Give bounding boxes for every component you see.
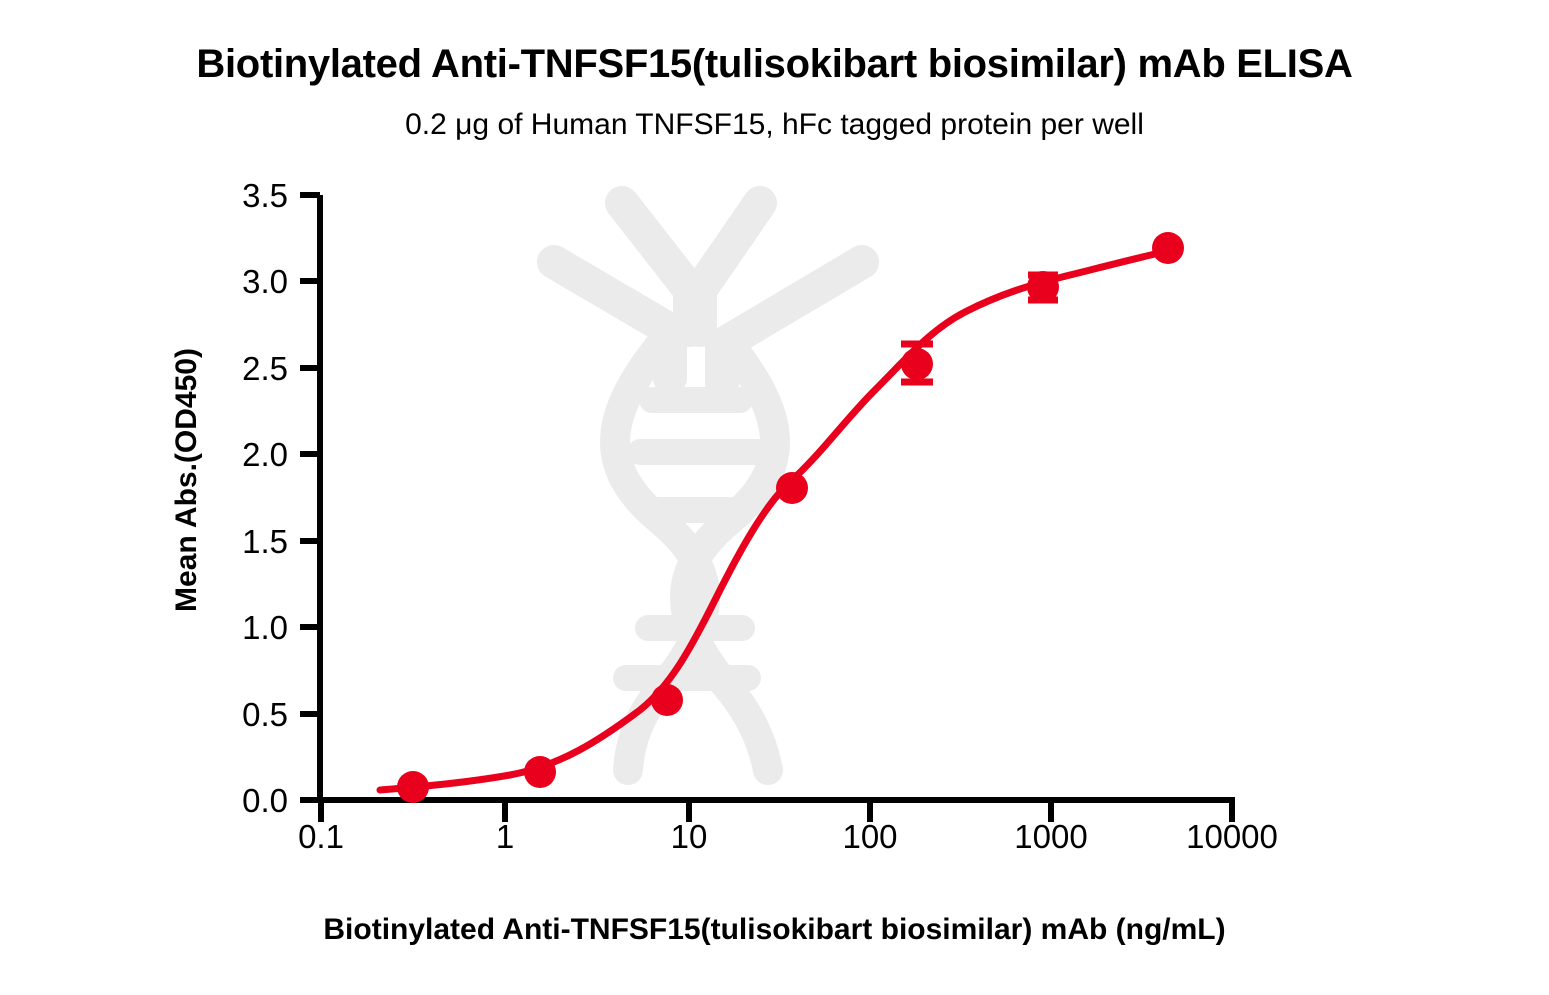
x-tick-label: 10: [609, 818, 769, 856]
chart-subtitle: 0.2 μg of Human TNFSF15, hFc tagged prot…: [0, 108, 1549, 142]
axis-lines: [317, 195, 1235, 800]
error-bars: [901, 275, 1058, 382]
chart-figure: Biotinylated Anti-TNFSF15(tulisokibart b…: [0, 0, 1549, 995]
data-point: [901, 348, 933, 380]
y-tick-label: 1.0: [198, 609, 288, 647]
y-tick-label: 0.5: [198, 696, 288, 734]
chart-title: Biotinylated Anti-TNFSF15(tulisokibart b…: [0, 42, 1549, 87]
data-point: [651, 684, 683, 716]
data-point: [776, 472, 808, 504]
y-tick-label: 3.5: [198, 177, 288, 215]
x-tick-label: 1000: [971, 818, 1131, 856]
y-tick-label: 1.5: [198, 523, 288, 561]
x-tick-label: 0.1: [241, 818, 401, 856]
y-tick-label: 2.5: [198, 350, 288, 388]
data-point: [397, 771, 429, 803]
data-points: [397, 232, 1184, 803]
x-tick-label: 1: [425, 818, 585, 856]
y-tick-label: 0.0: [198, 782, 288, 820]
x-tick-label: 10000: [1152, 818, 1312, 856]
y-axis-ticks: [300, 195, 320, 800]
data-point: [1027, 271, 1059, 303]
data-point: [524, 756, 556, 788]
y-tick-label: 2.0: [198, 436, 288, 474]
antibody-dna-logo-icon: [554, 203, 862, 770]
fit-curve: [380, 250, 1172, 790]
y-tick-label: 3.0: [198, 263, 288, 301]
x-tick-label: 100: [790, 818, 950, 856]
data-point: [1152, 232, 1184, 264]
x-axis-label: Biotinylated Anti-TNFSF15(tulisokibart b…: [0, 913, 1549, 947]
